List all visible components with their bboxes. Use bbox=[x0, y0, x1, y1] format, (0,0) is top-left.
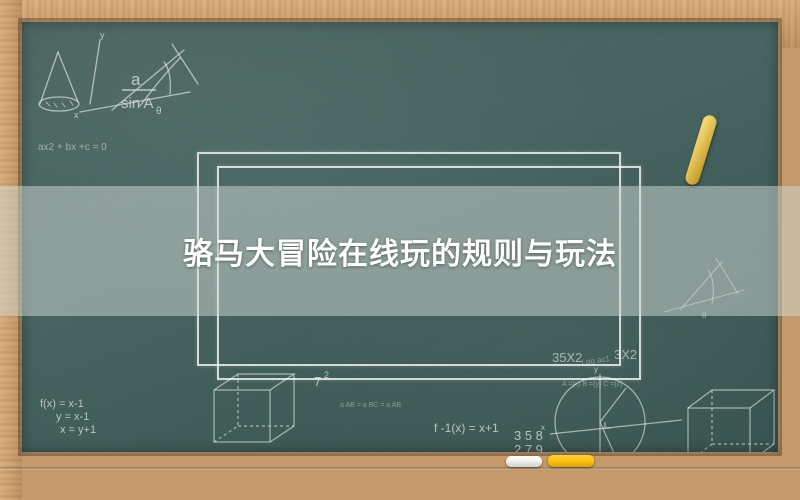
chalk-small-expr: a AB = a BC = a AB bbox=[340, 402, 401, 409]
chalk-fx-line3: x = y+1 bbox=[60, 424, 96, 436]
yellow-chalk-icon bbox=[548, 455, 594, 467]
chalk-fraction2-num: a bbox=[42, 449, 49, 452]
chalk-fx-line2: y = x-1 bbox=[56, 411, 89, 423]
chalk-sum-addend-2: 2 7 9 bbox=[514, 442, 543, 452]
chalk-sum-addend-1: 3 5 8 bbox=[514, 428, 543, 443]
chalk-angle-label: θ bbox=[156, 106, 162, 117]
chalk-axis-x-label: x bbox=[74, 110, 79, 120]
chalkboard-banner: a sin A y x θ ax2 + bx +c = 0 f(x) = x-1… bbox=[0, 0, 800, 500]
chalk-quadratic: ax2 + bx +c = 0 bbox=[38, 142, 107, 153]
chalk-circle-axis-x: x bbox=[541, 423, 545, 432]
page-title: 骆马大冒险在线玩的规则与玩法 bbox=[0, 186, 800, 316]
chalk-tray-lip bbox=[0, 467, 800, 470]
white-chalk-icon bbox=[506, 456, 542, 467]
chalk-fraction-numerator: a bbox=[131, 70, 141, 89]
chalk-inverse-function: f -1(x) = x+1 bbox=[434, 421, 499, 435]
chalk-fx-line1: f(x) = x-1 bbox=[40, 398, 84, 410]
chalk-fraction-denominator: sin A bbox=[121, 95, 154, 112]
chalk-axis-y-label: y bbox=[100, 30, 105, 40]
